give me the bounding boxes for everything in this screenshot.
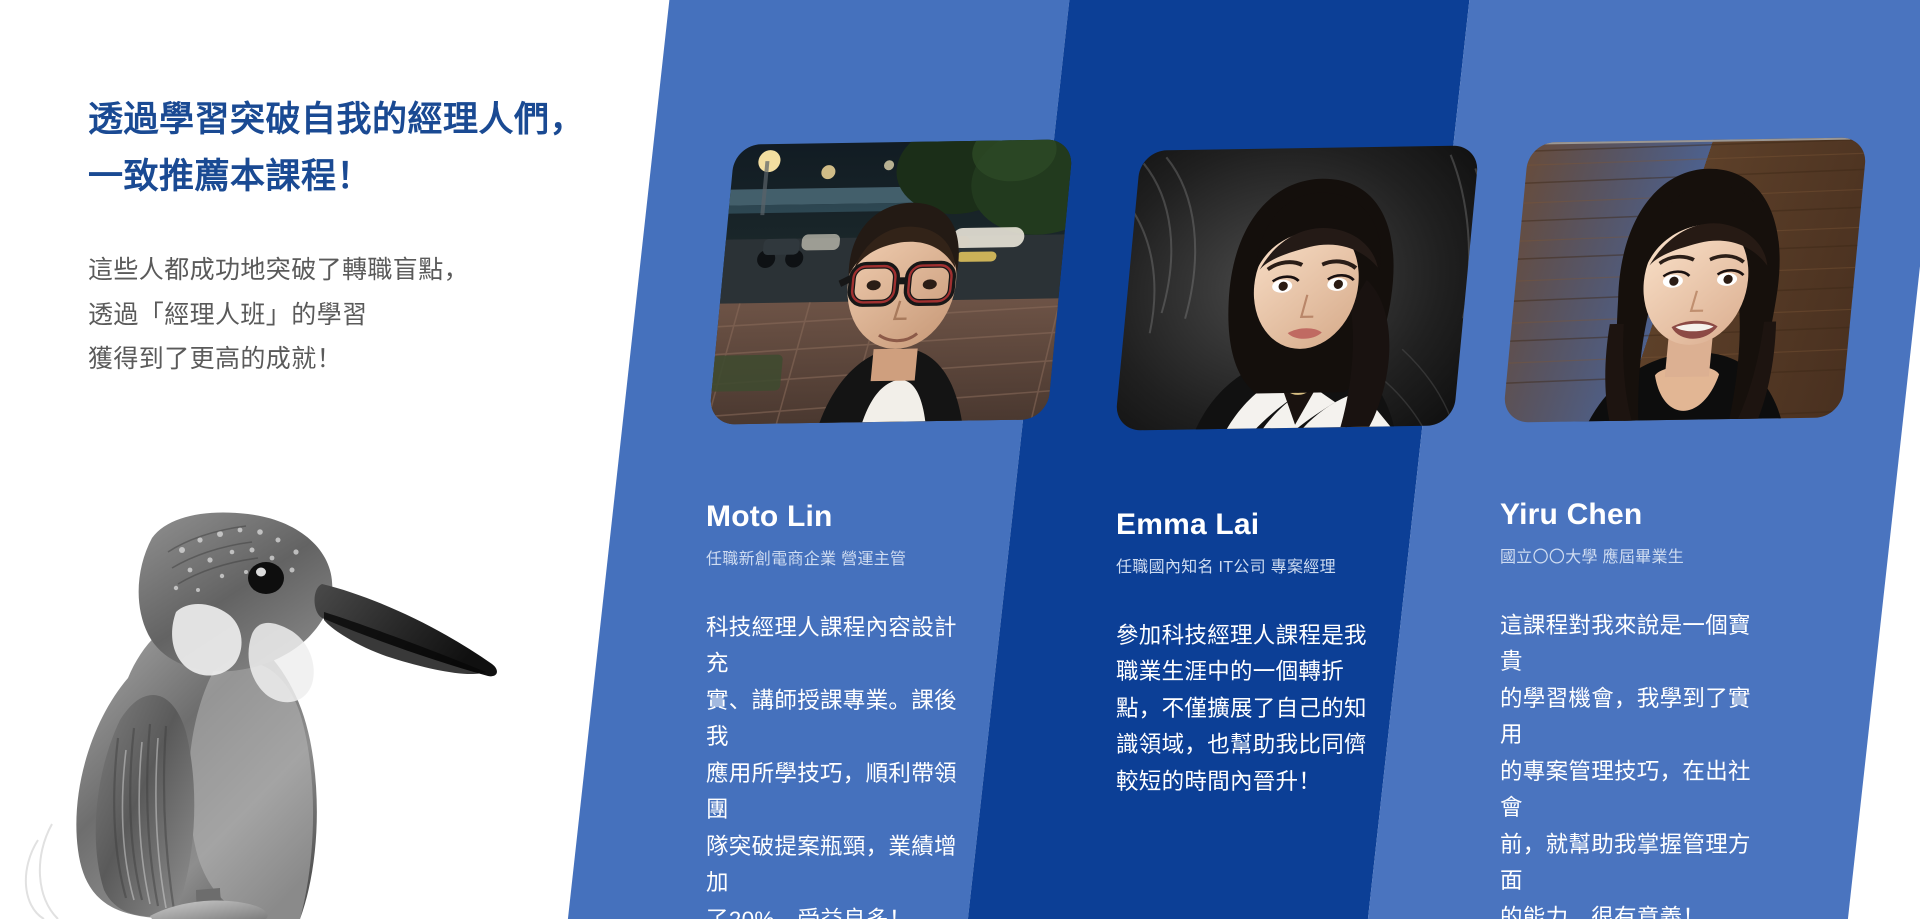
testimonial-quote: 這課程對我來說是一個寶貴 的學習機會，我學到了實用 的專案管理技巧，在出社會 前…	[1500, 608, 1772, 919]
person-name: Yiru Chen	[1500, 498, 1642, 532]
quote-line: 識領域，也幫助我比同儕	[1116, 727, 1388, 763]
hero-subcopy-line-2: 透過「經理人班」的學習	[88, 293, 588, 338]
quote-line: 隊突破提案瓶頸，業績增加	[706, 829, 978, 902]
quote-line: 應用所學技巧，順利帶領團	[706, 756, 978, 829]
page-title: 透過學習突破自我的經理人們， 一致推薦本課程！	[88, 92, 628, 205]
testimonial-card-emma-lai: Emma Lai 任職國內知名 IT公司 專案經理 參加科技經理人課程是我 職業…	[1058, 0, 1458, 919]
person-role: 任職國內知名 IT公司 專案經理	[1116, 553, 1336, 577]
page-title-line-2: 一致推薦本課程！	[88, 149, 628, 206]
testimonial-quote: 參加科技經理人課程是我 職業生涯中的一個轉折 點，不僅擴展了自己的知 識領域，也…	[1116, 618, 1388, 800]
testimonial-card-yiru-chen: Yiru Chen 國立〇〇大學 應屆畢業生 這課程對我來說是一個寶貴 的學習機…	[1450, 0, 1850, 919]
avatar-photo-emma-lai	[1114, 145, 1479, 430]
quote-line: 的專案管理技巧，在出社會	[1500, 754, 1772, 827]
avatar-photo-yiru-chen	[1502, 137, 1867, 422]
quote-line: 較短的時間內晉升！	[1116, 764, 1388, 800]
page-title-line-1: 透過學習突破自我的經理人們，	[88, 92, 628, 149]
kingfisher-bird-image	[0, 420, 540, 919]
testimonial-card-moto-lin: Moto Lin 任職新創電商企業 營運主管 科技經理人課程內容設計充 實、講師…	[660, 0, 1060, 919]
quote-line: 這課程對我來說是一個寶貴	[1500, 608, 1772, 681]
quote-line: 參加科技經理人課程是我	[1116, 618, 1388, 654]
quote-line: 的學習機會，我學到了實用	[1500, 681, 1772, 754]
quote-line: 科技經理人課程內容設計充	[706, 610, 978, 683]
avatar-photo-moto-lin	[708, 139, 1073, 424]
person-role: 國立〇〇大學 應屆畢業生	[1500, 543, 1684, 567]
person-name: Moto Lin	[706, 500, 833, 534]
quote-line: 的能力，很有意義！	[1500, 900, 1772, 919]
hero-left-column: 透過學習突破自我的經理人們， 一致推薦本課程！ 這些人都成功地突破了轉職盲點， …	[0, 0, 660, 919]
quote-line: 了20%，受益良多！	[706, 902, 978, 919]
quote-line: 前，就幫助我掌握管理方面	[1500, 827, 1772, 900]
hero-subcopy-line-3: 獲得到了更高的成就！	[88, 337, 588, 382]
hero-subcopy-line-1: 這些人都成功地突破了轉職盲點，	[88, 248, 588, 293]
quote-line: 職業生涯中的一個轉折	[1116, 654, 1388, 690]
person-name: Emma Lai	[1116, 508, 1259, 542]
quote-line: 點，不僅擴展了自己的知	[1116, 691, 1388, 727]
testimonial-quote: 科技經理人課程內容設計充 實、講師授課專業。課後我 應用所學技巧，順利帶領團 隊…	[706, 610, 978, 919]
person-role: 任職新創電商企業 營運主管	[706, 545, 906, 569]
hero-subcopy: 這些人都成功地突破了轉職盲點， 透過「經理人班」的學習 獲得到了更高的成就！	[88, 248, 588, 382]
quote-line: 實、講師授課專業。課後我	[706, 683, 978, 756]
